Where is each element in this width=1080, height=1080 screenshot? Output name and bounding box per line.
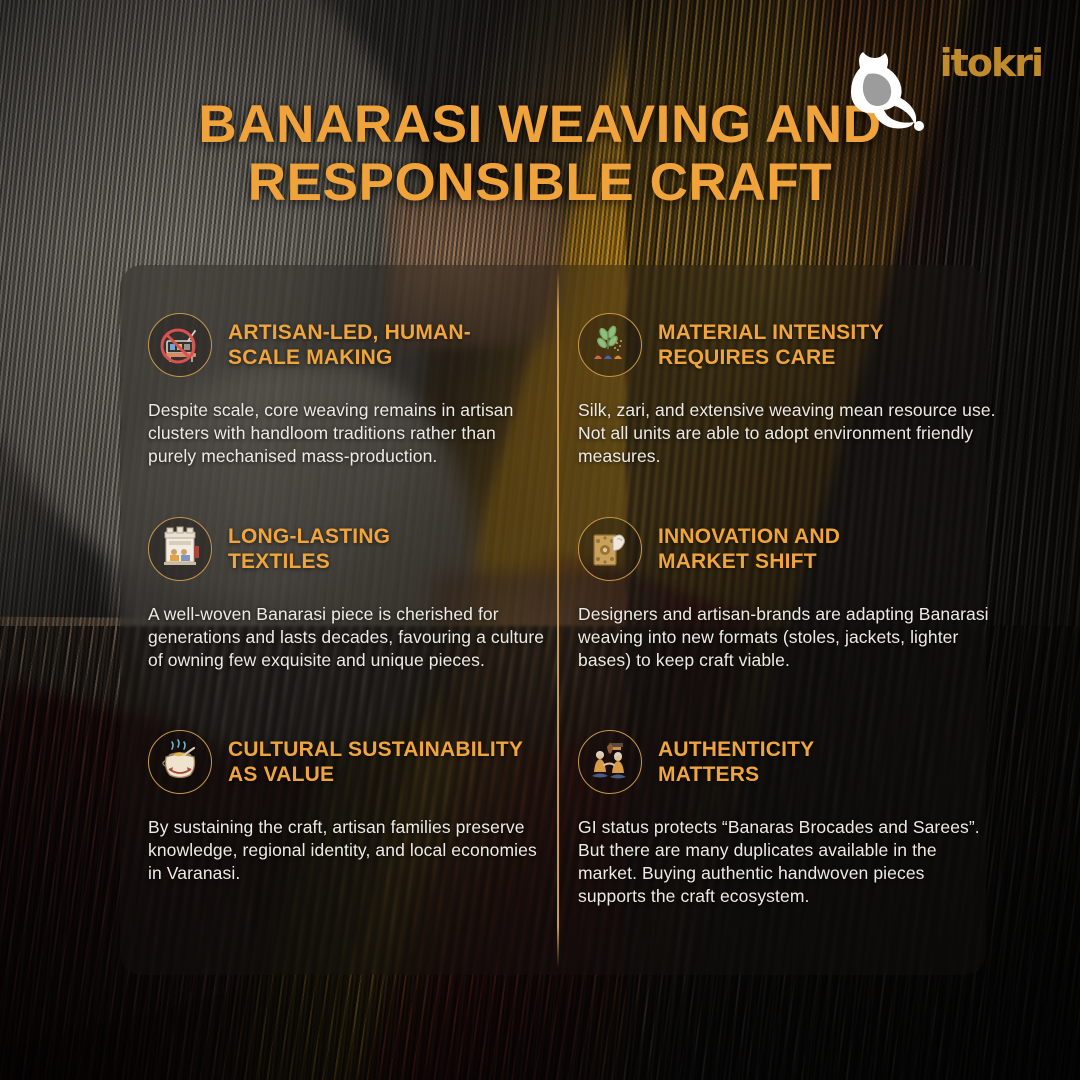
craft-shop-icon	[148, 517, 212, 581]
card-cultural-sustainability: CULTURAL SUSTAINABILITY AS VALUE By sust…	[148, 728, 548, 885]
card-title: LONG-LASTING TEXTILES	[228, 515, 458, 574]
card-long-lasting-textiles: LONG-LASTING TEXTILES A well-woven Banar…	[148, 515, 548, 672]
brand-logo-text: itokri	[940, 44, 1042, 82]
hand-holding-brocade-icon	[578, 517, 642, 581]
brand-logo: itokri	[940, 44, 1042, 82]
card-header: ARTISAN-LED, HUMAN-SCALE MAKING	[148, 311, 548, 377]
dye-pot-icon	[148, 730, 212, 794]
card-body: Designers and artisan-brands are adaptin…	[578, 603, 996, 672]
card-header: AUTHENTICITY MATTERS	[578, 728, 978, 794]
card-title: INNOVATION AND MARKET SHIFT	[658, 515, 908, 574]
card-artisan-led: ARTISAN-LED, HUMAN-SCALE MAKING Despite …	[148, 311, 548, 468]
card-title: CULTURAL SUSTAINABILITY AS VALUE	[228, 728, 528, 787]
card-title: AUTHENTICITY MATTERS	[658, 728, 908, 787]
card-body: Despite scale, core weaving remains in a…	[148, 399, 548, 468]
natural-dye-leaves-icon	[578, 313, 642, 377]
card-innovation-market-shift: INNOVATION AND MARKET SHIFT Designers an…	[578, 515, 978, 672]
no-power-loom-icon	[148, 313, 212, 377]
card-title: ARTISAN-LED, HUMAN-SCALE MAKING	[228, 311, 478, 370]
page-title-line-1: BANARASI WEAVING AND	[198, 95, 881, 154]
card-authenticity-matters: AUTHENTICITY MATTERS GI status protects …	[578, 728, 978, 908]
cards-grid: ARTISAN-LED, HUMAN-SCALE MAKING Despite …	[120, 265, 986, 975]
card-header: MATERIAL INTENSITY REQUIRES CARE	[578, 311, 978, 377]
card-body: By sustaining the craft, artisan familie…	[148, 816, 548, 885]
page-title-line-2: RESPONSIBLE CRAFT	[120, 154, 960, 212]
card-header: INNOVATION AND MARKET SHIFT	[578, 515, 978, 581]
card-body: GI status protects “Banaras Brocades and…	[578, 816, 996, 908]
card-header: CULTURAL SUSTAINABILITY AS VALUE	[148, 728, 548, 794]
card-body: Silk, zari, and extensive weaving mean r…	[578, 399, 996, 468]
card-header: LONG-LASTING TEXTILES	[148, 515, 548, 581]
card-title: MATERIAL INTENSITY REQUIRES CARE	[658, 311, 908, 370]
cat-logo-illustration	[838, 48, 930, 139]
two-artisans-icon	[578, 730, 642, 794]
card-material-intensity: MATERIAL INTENSITY REQUIRES CARE Silk, z…	[578, 311, 978, 468]
card-body: A well-woven Banarasi piece is cherished…	[148, 603, 548, 672]
